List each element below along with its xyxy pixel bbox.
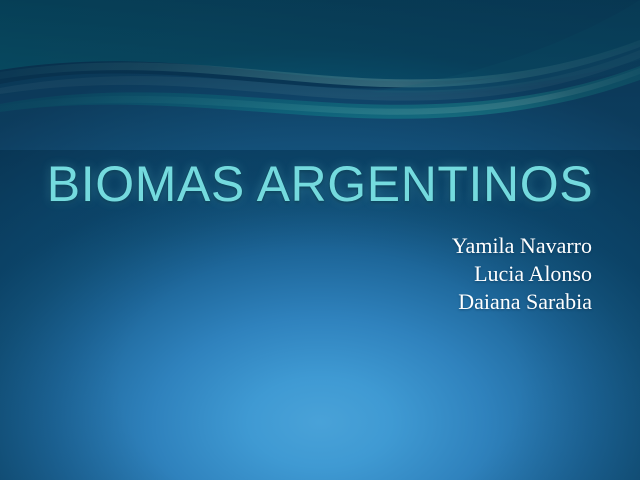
- author-name-3: Daiana Sarabia: [452, 288, 592, 316]
- subtitle-placeholder[interactable]: Yamila Navarro Lucia Alonso Daiana Sarab…: [452, 232, 592, 316]
- presentation-slide: BIOMAS ARGENTINOS Yamila Navarro Lucia A…: [0, 0, 640, 480]
- title-placeholder[interactable]: BIOMAS ARGENTINOS: [0, 158, 640, 211]
- page-title[interactable]: BIOMAS ARGENTINOS: [0, 158, 640, 211]
- author-name-1: Yamila Navarro: [452, 232, 592, 260]
- author-name-2: Lucia Alonso: [452, 260, 592, 288]
